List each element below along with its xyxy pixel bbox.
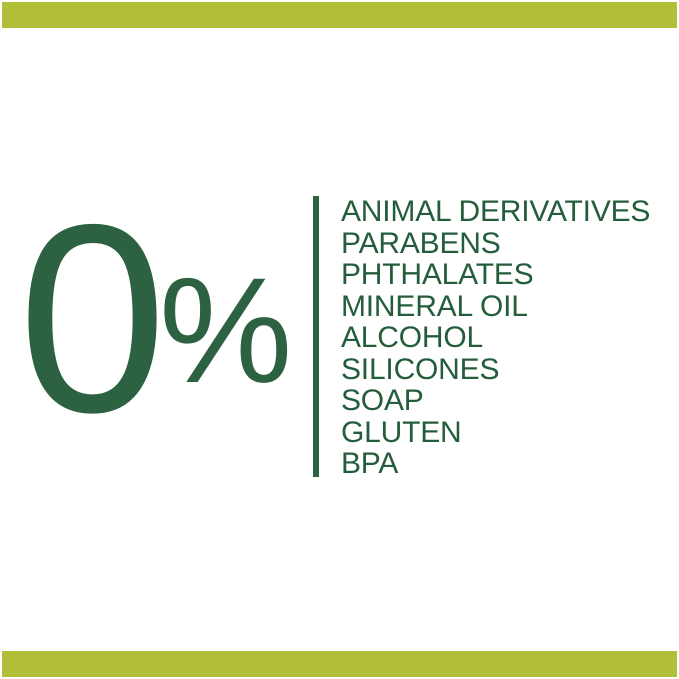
zero-percent-headline: 0% [18, 203, 303, 433]
vertical-divider [313, 196, 319, 477]
list-item: SOAP [341, 385, 679, 417]
list-item: PHTHALATES [341, 259, 679, 291]
list-item: MINERAL OIL [341, 291, 679, 323]
list-item: BPA [341, 448, 679, 480]
free-from-list: ANIMAL DERIVATIVES PARABENS PHTHALATES M… [341, 196, 679, 480]
list-item: PARABENS [341, 228, 679, 260]
list-item: GLUTEN [341, 417, 679, 449]
headline-number: 0 [18, 211, 165, 425]
percent-sign-icon: % [159, 270, 290, 390]
list-item: SILICONES [341, 354, 679, 386]
bottom-accent-bar [2, 651, 677, 677]
list-item: ALCOHOL [341, 322, 679, 354]
list-item: ANIMAL DERIVATIVES [341, 196, 679, 228]
top-accent-bar [2, 2, 677, 28]
poster-content: 0% ANIMAL DERIVATIVES PARABENS PHTHALATE… [0, 28, 679, 651]
free-from-poster: 0% ANIMAL DERIVATIVES PARABENS PHTHALATE… [0, 0, 679, 679]
